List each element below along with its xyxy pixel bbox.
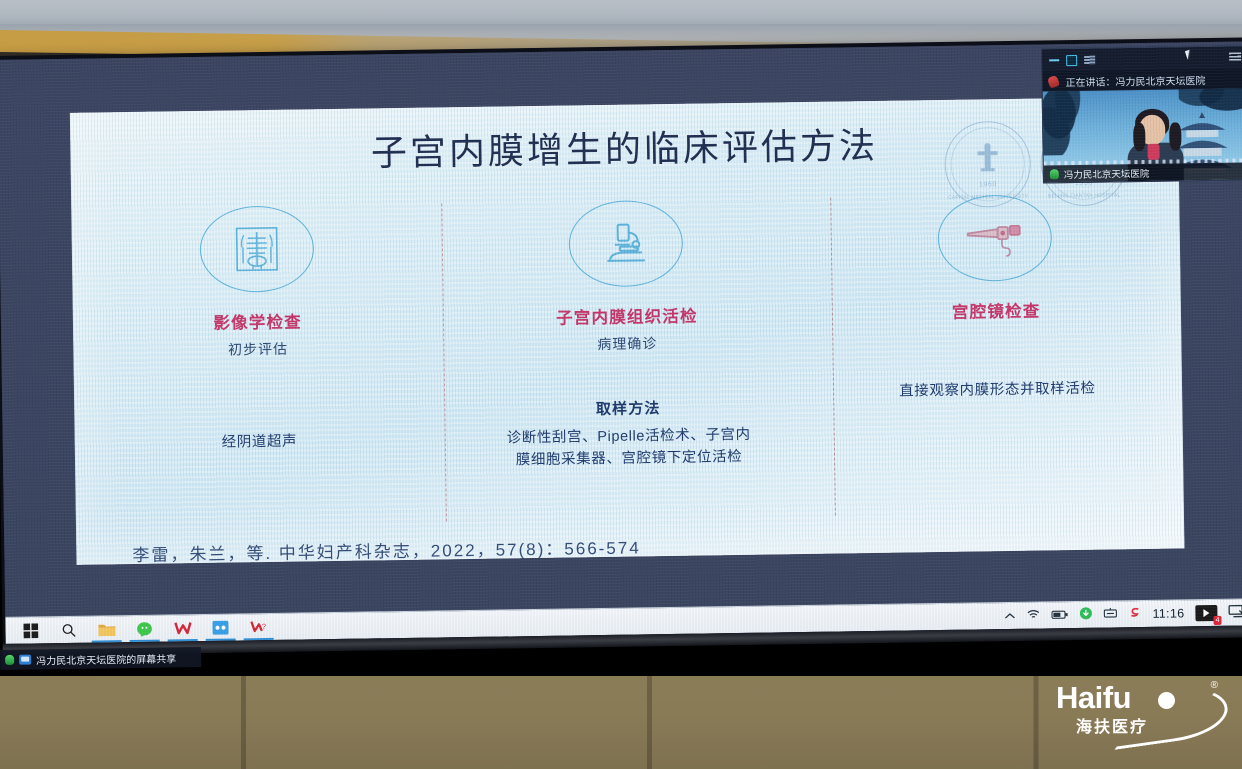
battery-icon[interactable] xyxy=(1051,608,1068,622)
chevron-up-icon[interactable] xyxy=(1004,609,1015,623)
notification-video-icon[interactable]: 4 xyxy=(1195,605,1217,621)
notification-count: 4 xyxy=(1214,616,1222,625)
wifi-icon[interactable] xyxy=(1026,609,1040,623)
slide-citation: 李雷，朱兰，等. 中华妇产科杂志，2022，57(8)：566-574 xyxy=(132,533,641,566)
column-imaging: 影像学检查 初步评估 常用方法 经阴道超声 xyxy=(71,203,445,538)
ime-icon[interactable] xyxy=(1103,607,1117,622)
svg-text:?: ? xyxy=(261,622,265,631)
microphone-red-icon xyxy=(1047,74,1060,88)
haifu-brand: Haifu xyxy=(1056,680,1131,716)
column-endometrial-biopsy: 子宫内膜组织活检 病理确诊 取样方法 诊断性刮宫、Pipelle活检术、子宫内 … xyxy=(441,198,815,533)
taskbar-app-meeting[interactable] xyxy=(201,614,239,641)
seal-year: 1960 xyxy=(946,181,1030,189)
column-heading: 宫腔镜检查 xyxy=(952,298,1041,323)
display-surface: 子宫内膜增生的临床评估方法 1960 CAPITAL MEDICAL UNIVE… xyxy=(0,41,1242,643)
sogou-icon[interactable] xyxy=(1128,606,1141,622)
microscope-icon xyxy=(568,200,683,288)
hysteroscope-icon xyxy=(937,194,1052,282)
restore-icon[interactable] xyxy=(1066,54,1077,65)
conference-room-photo: 子宫内膜增生的临床评估方法 1960 CAPITAL MEDICAL UNIVE… xyxy=(0,0,1242,769)
xray-skeleton-icon xyxy=(199,205,314,293)
video-panel-titlebar[interactable] xyxy=(1042,46,1242,71)
column-method-body: 直接观察内膜形态并取样活检 xyxy=(899,378,1096,403)
powerpoint-slide: 子宫内膜增生的临床评估方法 1960 CAPITAL MEDICAL UNIVE… xyxy=(70,96,1185,564)
taskbar-app-wps-presentation[interactable]: ? xyxy=(239,614,277,641)
microphone-green-icon xyxy=(1050,169,1059,179)
column-subtitle: 病理确诊 xyxy=(597,333,657,354)
column-heading: 子宫内膜组织活检 xyxy=(556,303,698,329)
speaking-label: 正在讲话：冯力民北京天坛医院 xyxy=(1065,72,1205,89)
mouse-pointer-icon xyxy=(1185,50,1193,60)
column-method-body: 经阴道超声 xyxy=(222,431,298,455)
search-icon[interactable] xyxy=(49,617,87,644)
caduceus-icon xyxy=(974,142,1001,176)
share-banner-label: 冯力民北京天坛医院的屏幕共享 xyxy=(36,650,176,667)
microphone-green-icon xyxy=(5,655,14,665)
haifu-dot-icon xyxy=(1158,692,1175,709)
led-display: 子宫内膜增生的临床评估方法 1960 CAPITAL MEDICAL UNIVE… xyxy=(0,37,1242,656)
haifu-registered-mark: ® xyxy=(1211,680,1218,691)
windows-start-icon[interactable] xyxy=(11,617,49,644)
haifu-watermark: Haifu ® 海扶医疗 xyxy=(1054,680,1224,736)
column-hysteroscopy: 宫腔镜检查 直接观察内膜形态并取样活检 xyxy=(810,192,1184,527)
minimize-icon[interactable] xyxy=(1048,55,1059,66)
screen-share-banner: 冯力民北京天坛医院的屏幕共享 xyxy=(0,647,201,670)
monitor-share-icon xyxy=(19,655,31,665)
green-download-icon[interactable] xyxy=(1079,607,1092,623)
taskbar-app-wps-writer[interactable] xyxy=(163,615,201,642)
column-method-title: 取样方法 xyxy=(596,397,661,419)
participant-video-tile[interactable]: 冯力民北京天坛医院 xyxy=(1043,88,1242,182)
column-method-body: 诊断性刮宫、Pipelle活检术、子宫内 膜细胞采集器、宫腔镜下定位活检 xyxy=(507,424,752,473)
participant-name: 冯力民北京天坛医院 xyxy=(1064,165,1150,180)
column-heading: 影像学检查 xyxy=(213,308,302,333)
taskbar-app-wechat[interactable] xyxy=(125,616,163,643)
show-desktop-icon[interactable] xyxy=(1228,604,1242,620)
column-subtitle: 初步评估 xyxy=(228,339,288,360)
participant-name-bar: 冯力民北京天坛医院 xyxy=(1044,162,1242,182)
hamburger-menu-icon[interactable] xyxy=(1229,52,1241,61)
taskbar-app-file-explorer[interactable] xyxy=(87,616,125,643)
list-view-icon[interactable] xyxy=(1084,54,1095,65)
background-tree-left xyxy=(1043,88,1088,155)
evaluation-methods-columns: 影像学检查 初步评估 常用方法 经阴道超声 xyxy=(71,192,1184,538)
taskbar-clock[interactable]: 11:16 xyxy=(1152,606,1184,620)
meeting-video-panel[interactable]: 正在讲话：冯力民北京天坛医院 xyxy=(1041,45,1242,183)
haifu-brand-cn: 海扶医疗 xyxy=(1076,713,1148,737)
